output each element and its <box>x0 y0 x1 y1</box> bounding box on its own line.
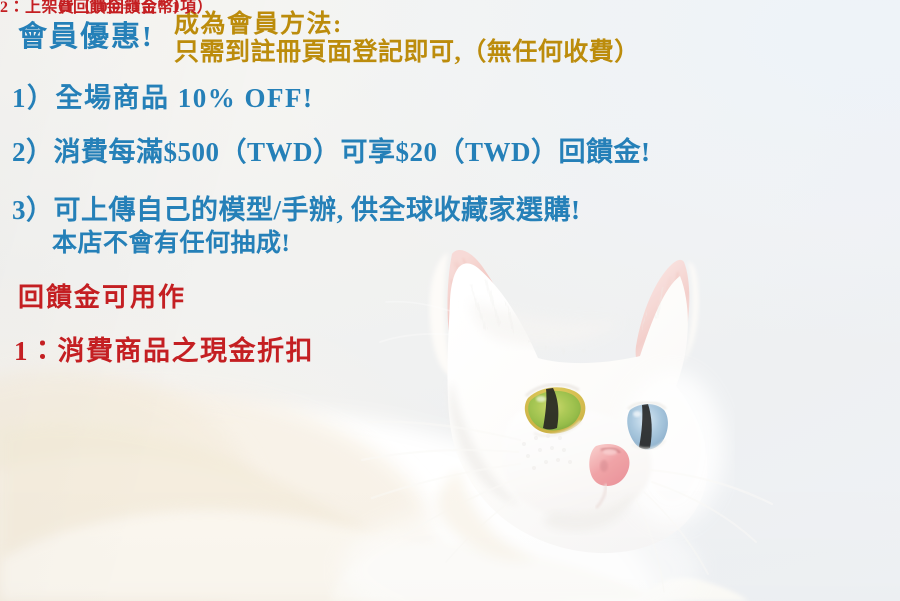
benefit-item-3: 3）可上傳自己的模型/手辦, 供全球收藏家選購! <box>12 197 581 224</box>
howto-join-detail: 只需到註冊頁面登記即可,（無任何收費） <box>174 40 640 65</box>
heading-member-benefits: 會員優惠! <box>18 23 154 52</box>
promo-banner: 會員優惠! 成為會員方法: 只需到註冊頁面登記即可,（無任何收費） 1）全場商品… <box>0 0 900 601</box>
rebate-usage-heading: 回饋金可用作 <box>18 285 186 311</box>
rebate-usage-item-2: 2：上架費（10回饋金= 1項） <box>0 0 213 16</box>
rebate-usage-item-1: 1：消費商品之現金折扣 <box>14 338 314 365</box>
benefit-item-2: 2）消費每滿$500（TWD）可享$20（TWD）回饋金! <box>12 139 651 166</box>
benefit-item-3-note: 本店不會有任何抽成! <box>52 231 290 256</box>
benefit-item-1: 1）全場商品 10% OFF! <box>12 85 313 112</box>
